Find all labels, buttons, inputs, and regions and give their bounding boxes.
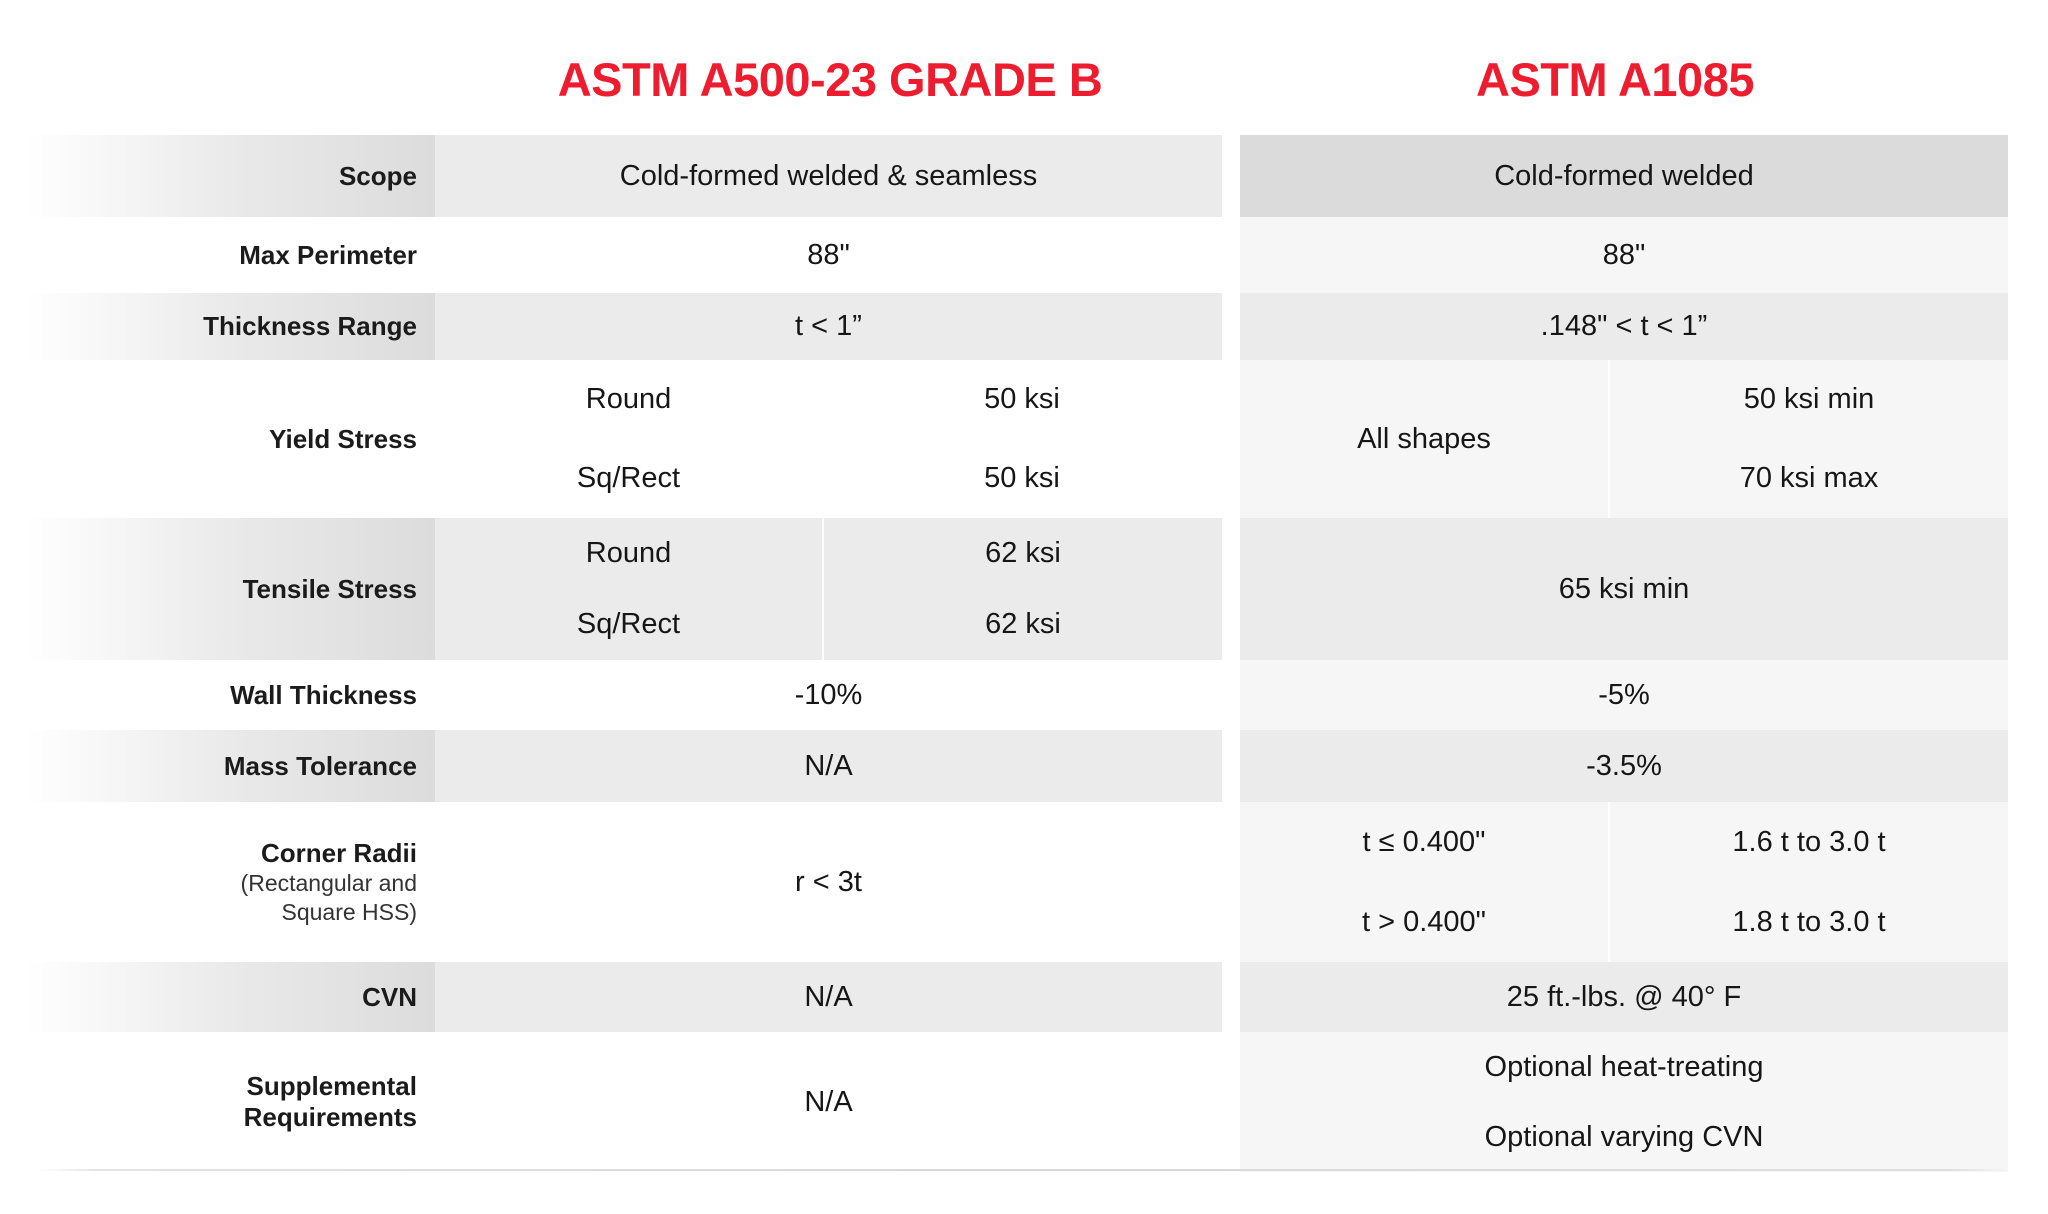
a1085-value-column: 50 ksi min 70 ksi max — [1608, 360, 2008, 518]
a500-value-column: 62 ksi 62 ksi — [822, 518, 1222, 660]
table-headers: ASTM A500-23 GRADE B ASTM A1085 — [0, 52, 2048, 122]
a500-value-round: 62 ksi — [824, 518, 1222, 589]
table-row-yield-stress: Yield Stress Round Sq/Rect 50 ksi 50 ksi… — [0, 360, 2008, 518]
row-label-sub-line-1: (Rectangular and — [241, 870, 417, 897]
a1085-value-2: Optional varying CVN — [1240, 1102, 2008, 1172]
a500-cell-tensile-stress: Round Sq/Rect 62 ksi 62 ksi — [435, 518, 1222, 660]
a1085-value: Cold-formed welded — [1240, 135, 2008, 217]
row-label-corner-radii: Corner Radii (Rectangular and Square HSS… — [0, 802, 435, 962]
comparison-table: Scope Cold-formed welded & seamless Cold… — [0, 135, 2008, 1172]
a1085-value: .148" < t < 1” — [1240, 293, 2008, 360]
row-label-text: Tensile Stress — [243, 574, 417, 605]
a1085-cell-mass-tolerance: -3.5% — [1240, 730, 2008, 802]
a1085-condition-column: t ≤ 0.400" t > 0.400" — [1240, 802, 1608, 962]
row-label-text: Corner Radii — [261, 838, 417, 868]
a1085-value: 65 ksi min — [1240, 518, 2008, 660]
a500-value: 88" — [435, 217, 1222, 293]
row-label-line-1: Supplemental — [244, 1071, 417, 1102]
row-label-scope: Scope — [0, 135, 435, 217]
table-row-supplemental-requirements: Supplemental Requirements N/A Optional h… — [0, 1032, 2008, 1172]
header-astm-a1085: ASTM A1085 — [1222, 52, 2008, 107]
a500-shape-sq-rect: Sq/Rect — [435, 439, 822, 518]
a500-cell-supplemental: N/A — [435, 1032, 1222, 1172]
section-gutter — [1222, 802, 1240, 962]
a500-value-sq-rect: 62 ksi — [824, 589, 1222, 660]
comparison-table-page: ASTM A500-23 GRADE B ASTM A1085 Scope Co… — [0, 0, 2048, 1214]
table-row-mass-tolerance: Mass Tolerance N/A -3.5% — [0, 730, 2008, 802]
table-row-thickness-range: Thickness Range t < 1” .148" < t < 1” — [0, 293, 2008, 360]
section-gutter — [1222, 360, 1240, 518]
a500-value: N/A — [435, 1032, 1222, 1172]
a500-cell-scope: Cold-formed welded & seamless — [435, 135, 1222, 217]
a1085-condition-1: t ≤ 0.400" — [1240, 802, 1608, 882]
a1085-shape-all: All shapes — [1240, 360, 1608, 518]
a1085-value: -5% — [1240, 660, 2008, 730]
a500-shape-column: Round Sq/Rect — [435, 518, 822, 660]
a500-shape-column: Round Sq/Rect — [435, 360, 822, 518]
a500-value: t < 1” — [435, 293, 1222, 360]
section-gutter — [1222, 730, 1240, 802]
header-astm-a500: ASTM A500-23 GRADE B — [438, 52, 1222, 107]
row-label-text: Thickness Range — [203, 311, 417, 342]
a500-value: N/A — [435, 962, 1222, 1032]
a1085-cell-tensile-stress: 65 ksi min — [1240, 518, 2008, 660]
a500-value-sq-rect: 50 ksi — [822, 439, 1222, 518]
row-label-cvn: CVN — [0, 962, 435, 1032]
table-row-corner-radii: Corner Radii (Rectangular and Square HSS… — [0, 802, 2008, 962]
section-gutter — [1222, 660, 1240, 730]
row-label-tensile-stress: Tensile Stress — [0, 518, 435, 660]
a1085-value: 25 ft.-lbs. @ 40° F — [1240, 962, 2008, 1032]
table-row-tensile-stress: Tensile Stress Round Sq/Rect 62 ksi 62 k… — [0, 518, 2008, 660]
a1085-value-max: 70 ksi max — [1610, 439, 2008, 518]
a1085-value-1: Optional heat-treating — [1240, 1032, 2008, 1102]
section-gutter — [1222, 135, 1240, 217]
table-bottom-rule — [40, 1169, 2008, 1171]
a1085-cell-corner-radii: t ≤ 0.400" t > 0.400" 1.6 t to 3.0 t 1.8… — [1240, 802, 2008, 962]
section-gutter — [1222, 1032, 1240, 1172]
row-label-max-perimeter: Max Perimeter — [0, 217, 435, 293]
a1085-condition-2: t > 0.400" — [1240, 882, 1608, 962]
row-label-text: Scope — [339, 161, 417, 192]
row-label-sub-line-2: Square HSS) — [241, 899, 417, 926]
a500-shape-round: Round — [435, 360, 822, 439]
a1085-value: 88" — [1240, 217, 2008, 293]
row-label-text: CVN — [362, 982, 417, 1013]
table-row-wall-thickness: Wall Thickness -10% -5% — [0, 660, 2008, 730]
a1085-cell-supplemental: Optional heat-treating Optional varying … — [1240, 1032, 2008, 1172]
a1085-cell-yield-stress: All shapes 50 ksi min 70 ksi max — [1240, 360, 2008, 518]
row-label-text: Wall Thickness — [230, 680, 417, 711]
section-gutter — [1222, 217, 1240, 293]
a1085-value-column: Optional heat-treating Optional varying … — [1240, 1032, 2008, 1172]
a500-cell-thickness-range: t < 1” — [435, 293, 1222, 360]
a500-value: Cold-formed welded & seamless — [435, 135, 1222, 217]
a500-cell-yield-stress: Round Sq/Rect 50 ksi 50 ksi — [435, 360, 1222, 518]
table-row-max-perimeter: Max Perimeter 88" 88" — [0, 217, 2008, 293]
a500-cell-cvn: N/A — [435, 962, 1222, 1032]
a500-cell-corner-radii: r < 3t — [435, 802, 1222, 962]
section-gutter — [1222, 962, 1240, 1032]
a1085-value-column: 1.6 t to 3.0 t 1.8 t to 3.0 t — [1608, 802, 2008, 962]
a1085-value-1: 1.6 t to 3.0 t — [1610, 802, 2008, 882]
row-label-yield-stress: Yield Stress — [0, 360, 435, 518]
row-label-text: Yield Stress — [269, 424, 417, 455]
row-label-mass-tolerance: Mass Tolerance — [0, 730, 435, 802]
row-label-text: Max Perimeter — [239, 240, 417, 271]
a1085-cell-thickness-range: .148" < t < 1” — [1240, 293, 2008, 360]
a500-cell-max-perimeter: 88" — [435, 217, 1222, 293]
a500-shape-round: Round — [435, 518, 822, 589]
a500-value-round: 50 ksi — [822, 360, 1222, 439]
section-gutter — [1222, 293, 1240, 360]
a1085-value-min: 50 ksi min — [1610, 360, 2008, 439]
a1085-cell-max-perimeter: 88" — [1240, 217, 2008, 293]
table-row-scope: Scope Cold-formed welded & seamless Cold… — [0, 135, 2008, 217]
row-label-wall-thickness: Wall Thickness — [0, 660, 435, 730]
a500-value: N/A — [435, 730, 1222, 802]
a1085-cell-wall-thickness: -5% — [1240, 660, 2008, 730]
table-row-cvn: CVN N/A 25 ft.-lbs. @ 40° F — [0, 962, 2008, 1032]
a500-value: r < 3t — [435, 802, 1222, 962]
a500-cell-mass-tolerance: N/A — [435, 730, 1222, 802]
a1085-cell-scope: Cold-formed welded — [1240, 135, 2008, 217]
a1085-cell-cvn: 25 ft.-lbs. @ 40° F — [1240, 962, 2008, 1032]
a500-cell-wall-thickness: -10% — [435, 660, 1222, 730]
row-label-line-2: Requirements — [244, 1102, 417, 1133]
a500-shape-sq-rect: Sq/Rect — [435, 589, 822, 660]
row-label-thickness-range: Thickness Range — [0, 293, 435, 360]
row-label-text: Mass Tolerance — [224, 751, 417, 782]
section-gutter — [1222, 518, 1240, 660]
row-label-supplemental-requirements: Supplemental Requirements — [0, 1032, 435, 1172]
a500-value: -10% — [435, 660, 1222, 730]
a1085-value-2: 1.8 t to 3.0 t — [1610, 882, 2008, 962]
a500-value-column: 50 ksi 50 ksi — [822, 360, 1222, 518]
a1085-value: -3.5% — [1240, 730, 2008, 802]
